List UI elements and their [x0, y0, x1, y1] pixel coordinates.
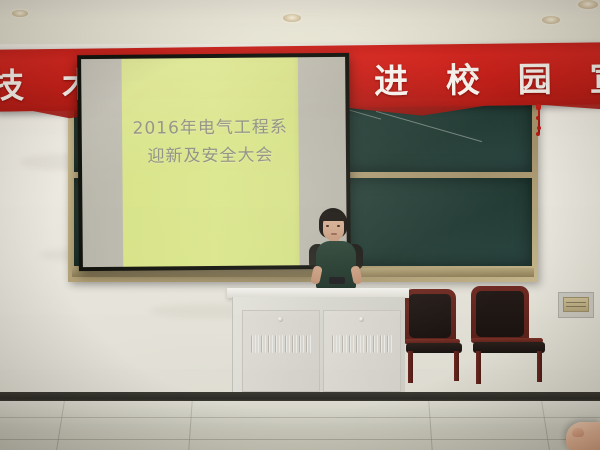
lectern-door-knob[interactable] [359, 317, 364, 322]
tassel-bead [536, 116, 540, 120]
chair-leg [476, 351, 481, 384]
presenter-eye [326, 225, 329, 227]
chair-leg [454, 351, 459, 381]
ventilation-slots [251, 335, 311, 353]
chair-back-cushion [409, 294, 451, 338]
armchair-right [471, 286, 549, 386]
wall-outlet-plate[interactable] [558, 292, 594, 318]
armchair-left [404, 289, 466, 385]
ceiling-spotlight [578, 0, 598, 9]
presenter-eye [337, 225, 340, 227]
chair-leg [408, 351, 413, 383]
lectern-door-left[interactable] [242, 310, 320, 392]
plaque-line [566, 306, 586, 307]
ceiling-spotlight [12, 10, 28, 17]
banner-tassel [536, 104, 541, 134]
plaque-face [563, 297, 589, 312]
slide-line-1: 2016年电气工程系 [122, 115, 298, 142]
slide-text-block: 2016年电气工程系 迎新及安全大会 [122, 115, 298, 170]
chair-back-cushion [476, 291, 524, 337]
presenter-mouth [331, 233, 337, 235]
chair-seat [473, 342, 545, 353]
slide-line-2: 迎新及安全大会 [122, 143, 298, 170]
fingernail [572, 428, 584, 437]
presenter-fringe [321, 212, 346, 221]
photo-scene: 技 术 ! 进 校 园 宣 传 2016年电气工程系 迎新及安全大会 [0, 0, 600, 450]
ceiling-spotlight [542, 16, 560, 24]
lectern-door-knob[interactable] [278, 317, 283, 322]
ceiling-spotlight [283, 14, 301, 22]
presenter [305, 208, 367, 300]
lectern-door-right[interactable] [323, 310, 401, 392]
tassel-bead [537, 126, 541, 130]
chair-leg [537, 351, 542, 382]
chalk-mark [376, 111, 482, 142]
ventilation-slots [332, 335, 392, 353]
plaque-line [566, 302, 586, 303]
floor-reflection [0, 401, 600, 450]
lens-obstruction-finger [566, 422, 600, 450]
handheld-device [329, 277, 345, 284]
banner-right-text: 进 校 园 宣 传 [374, 50, 600, 103]
tassel-bead [536, 132, 540, 136]
tassel-cord [538, 109, 540, 134]
